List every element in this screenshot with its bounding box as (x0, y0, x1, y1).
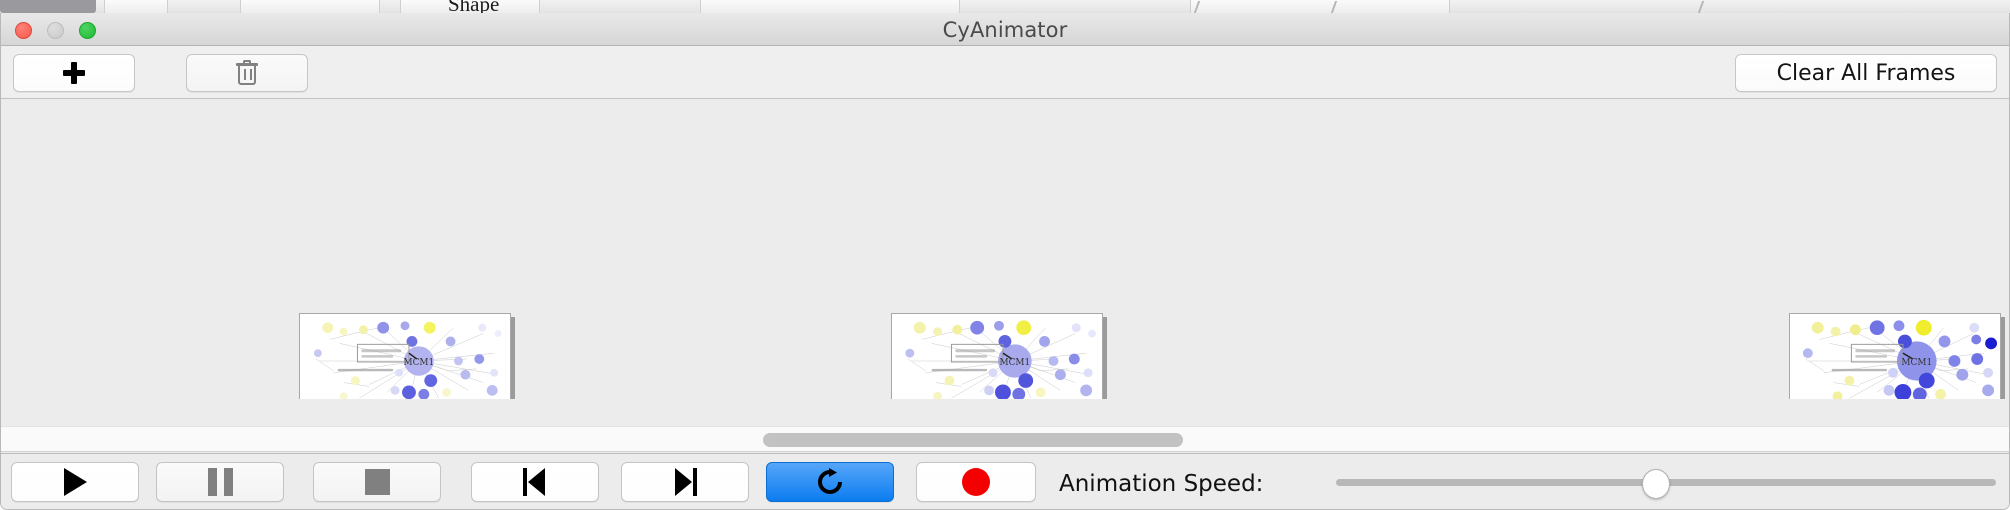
play-button[interactable] (11, 462, 139, 502)
clear-all-frames-label: Clear All Frames (1777, 61, 1956, 86)
skip-back-button[interactable] (471, 462, 599, 502)
timeline-frame-thumbnail[interactable]: MCM1 (299, 313, 511, 399)
record-button[interactable] (916, 462, 1036, 502)
add-frame-button[interactable] (13, 54, 135, 92)
record-icon (962, 468, 990, 496)
stop-button[interactable] (313, 462, 441, 502)
clear-all-frames-button[interactable]: Clear All Frames (1735, 54, 1997, 92)
pause-button[interactable] (156, 462, 284, 502)
timeline-panel[interactable]: MCM1 (1, 99, 2009, 399)
window-title: CyAnimator (1, 18, 2009, 42)
skip-back-icon (522, 468, 548, 496)
network-graph-thumbnail: MCM1 (892, 314, 1102, 399)
animation-speed-label: Animation Speed: (1059, 471, 1263, 497)
skip-forward-icon (672, 468, 698, 496)
animation-speed-slider[interactable] (1336, 462, 1996, 502)
network-graph-thumbnail: MCM1 (1790, 314, 2000, 399)
horizontal-scrollbar[interactable] (1, 426, 2010, 452)
bg-slash-icon (1698, 1, 1704, 13)
pause-icon (208, 468, 233, 496)
loop-icon (815, 467, 845, 497)
timeline-frame-thumbnail[interactable]: MCM1 (1789, 313, 2001, 399)
bg-window-chip (1190, 0, 1450, 14)
svg-text:MCM1: MCM1 (1901, 358, 1932, 368)
loop-button[interactable] (766, 462, 894, 502)
timeline-frame-thumbnail[interactable]: MCM1 (891, 313, 1103, 399)
scrollbar-thumb[interactable] (763, 433, 1183, 447)
background-window-strip: Shape (0, 0, 2010, 14)
toolbar: Clear All Frames (1, 46, 2009, 99)
svg-text:MCM1: MCM1 (403, 358, 434, 368)
bg-window-shape-label: Shape (448, 0, 499, 14)
network-graph-thumbnail: MCM1 (300, 314, 510, 399)
svg-text:MCM1: MCM1 (999, 358, 1030, 368)
title-bar: CyAnimator (1, 13, 2009, 46)
play-icon (64, 468, 87, 496)
bg-window-chip (104, 0, 168, 14)
trash-icon (236, 60, 258, 86)
playback-toolbar: Animation Speed: (1, 453, 2010, 510)
delete-frame-button[interactable] (186, 54, 308, 92)
bg-window-chip (240, 0, 380, 14)
bg-window-tab (0, 0, 96, 13)
cyanimator-window: CyAnimator Clear All Frames (0, 13, 2010, 510)
skip-forward-button[interactable] (621, 462, 749, 502)
bg-window-chip (700, 0, 960, 14)
stop-icon (365, 469, 390, 495)
slider-thumb[interactable] (1642, 469, 1670, 499)
plus-icon (62, 61, 86, 85)
